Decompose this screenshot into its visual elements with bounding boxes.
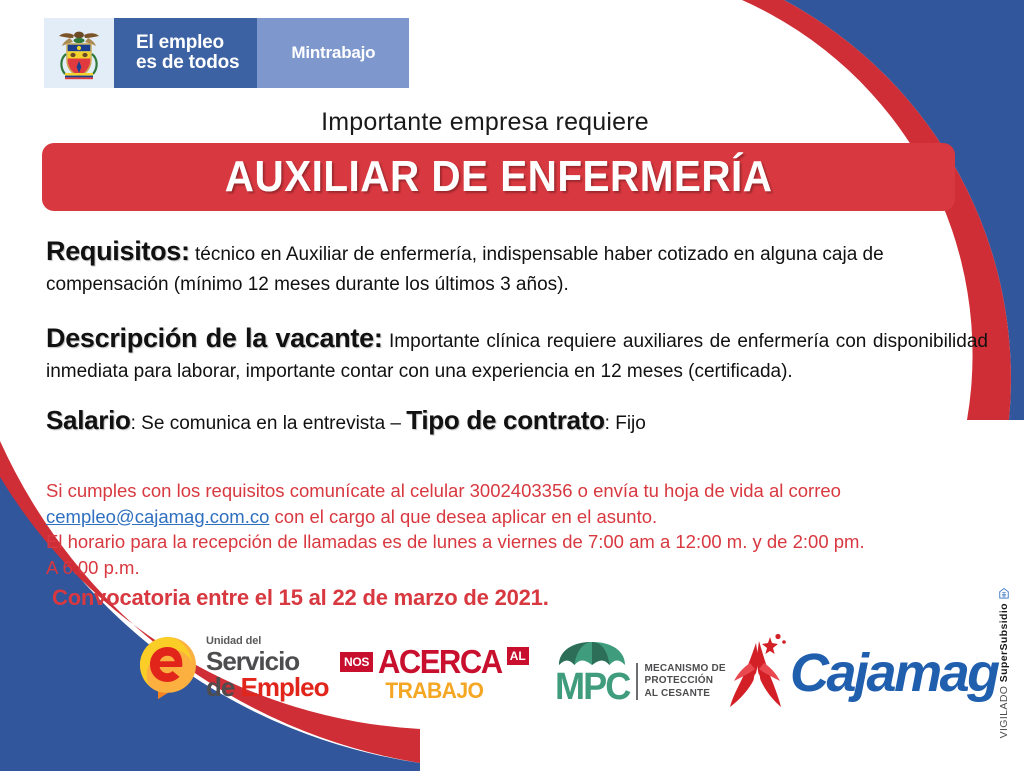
contact-line-2: cempleo@cajamag.com.co con el cargo al q… [46,504,988,530]
requisitos-colon: : [181,236,190,266]
requisitos-label: Requisitos [46,236,181,266]
convocatoria-dates: Convocatoria entre el 15 al 22 de marzo … [52,585,549,611]
cajamag-star-figure-icon [726,633,788,713]
acerca-nos-label: NOS [340,652,373,672]
tipo-contrato-value: Fijo [610,413,646,434]
mpc-desc-line-2: PROTECCIÓN [644,675,725,688]
kicker-text: Importante empresa requiere [0,108,1024,137]
mpc-letters: MPC [555,671,630,703]
descripcion-paragraph: Descripción de la vacante: Importante cl… [46,319,988,386]
contact-line-4: A 6:00 p.m. [46,555,988,581]
vigilado-supersubsidio-mark: VIGILADO SuperSubsidio [987,588,1021,738]
ministry-label-block: Mintrabajo [257,18,409,88]
acerca-main-label: ACERCA [378,643,502,681]
slogan-line-1: El empleo [136,32,224,53]
salario-paragraph: Salario: Se comunica en la entrevista – … [46,405,988,436]
page-title: AUXILIAR DE ENFERMERÍA [225,152,773,202]
salario-value: Se comunica en la entrevista – [136,413,406,434]
servicio-de-empleo-pin-icon [138,635,198,701]
acerca-top-row: NOS ACERCA AL [340,643,529,681]
nos-acerca-al-trabajo-logo: NOS ACERCA AL TRABAJO [340,643,529,704]
ministry-label: Mintrabajo [291,43,375,63]
vigilado-label: VIGILADO SuperSubsidio [998,603,1010,738]
servicio-empleo-line-3-accent: Empleo [241,672,329,702]
vigilado-prefix: VIGILADO [998,682,1010,738]
acerca-trabajo-label: TRABAJO [344,678,525,704]
servicio-empleo-line-3: de Empleo [206,674,329,700]
colombia-coat-of-arms-icon [44,18,114,88]
requisitos-paragraph: Requisitos: técnico en Auxiliar de enfer… [46,232,988,299]
servicio-empleo-line-3-prefix: de [206,672,241,702]
contact-line-3: El horario para la recepción de llamadas… [46,529,988,555]
email-link[interactable]: cempleo@cajamag.com.co [46,506,269,527]
mpc-desc-line-3: AL CESANTE [644,688,725,701]
cajamag-logo: Cajamag [726,633,998,713]
mpc-desc-line-1: MECANISMO DE [644,663,725,676]
vigilado-bold: SuperSubsidio [998,603,1010,682]
servicio-empleo-line-2: Servicio [206,648,329,674]
mpc-logo: MPC MECANISMO DE PROTECCIÓN AL CESANTE [553,639,726,703]
job-title-banner: AUXILIAR DE ENFERMERÍA [42,143,955,211]
contact-block: Si cumples con los requisitos comunícate… [46,478,988,580]
descripcion-label: Descripción de la vacante: [46,323,383,353]
tipo-contrato-label: Tipo de contrato [406,405,604,435]
government-header-bar: El empleo es de todos Mintrabajo [44,18,409,88]
servicio-de-empleo-logo: Unidad del Servicio de Empleo [138,635,329,701]
acerca-al-label: AL [507,647,529,665]
supersubsidio-house-icon [995,588,1013,599]
government-slogan-block: El empleo es de todos [114,18,257,88]
mpc-description: MECANISMO DE PROTECCIÓN AL CESANTE [636,663,725,701]
contact-line-1: Si cumples con los requisitos comunícate… [46,478,988,504]
contact-line-2-suffix: con el cargo al que desea aplicar en el … [269,506,657,527]
salario-label: Salario [46,405,131,435]
cajamag-wordmark: Cajamag [790,642,998,704]
slogan-line-2: es de todos [136,52,239,73]
job-posting-poster: El empleo es de todos Mintrabajo Importa… [0,0,1024,771]
job-details-body: Requisitos: técnico en Auxiliar de enfer… [46,232,988,456]
footer-logo-row: Unidad del Servicio de Empleo NOS ACERCA… [0,625,1024,745]
